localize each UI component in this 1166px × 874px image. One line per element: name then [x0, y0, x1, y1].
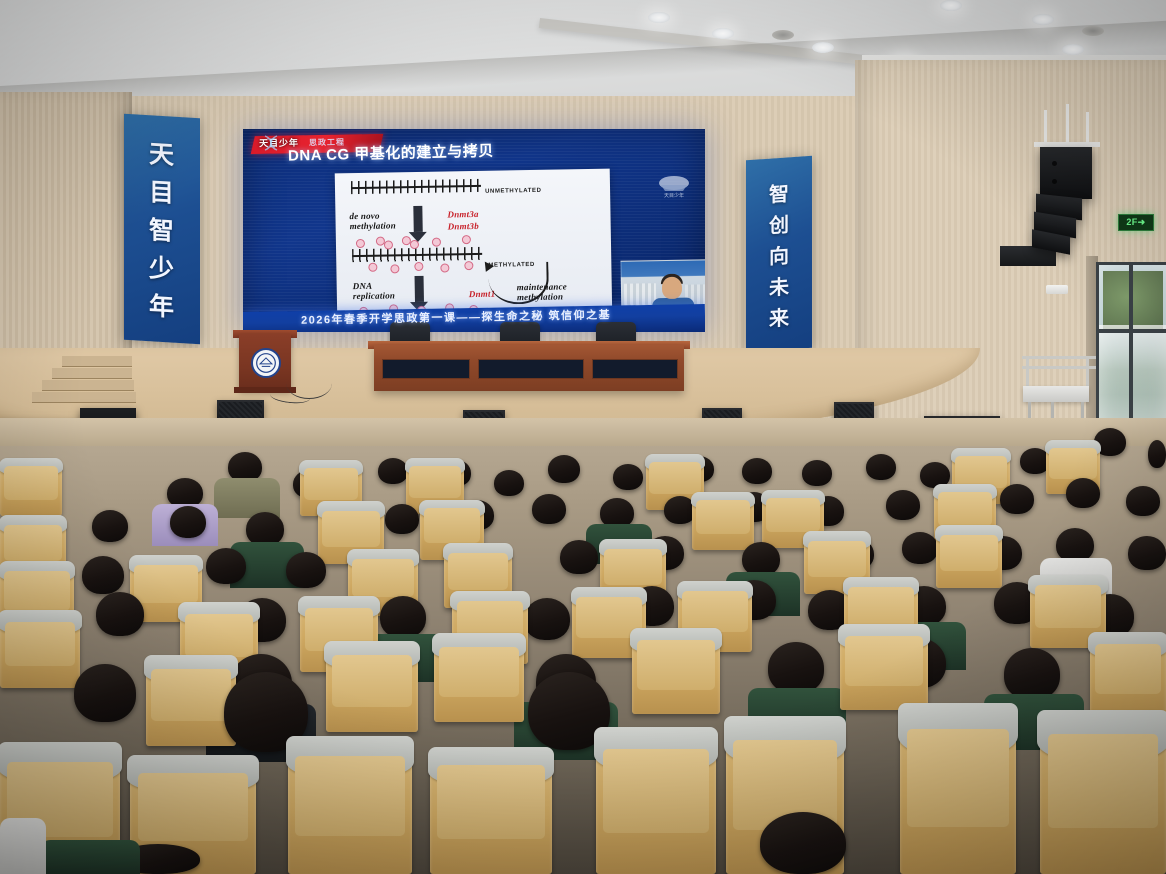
- methyl-group-icon: [410, 240, 419, 249]
- methyl-group-icon: [440, 263, 449, 272]
- student-head: [82, 556, 124, 594]
- downlight-icon: [1032, 14, 1054, 25]
- label-unmethylated: UNMETHYLATED: [485, 186, 542, 197]
- banner-char: 向: [769, 239, 789, 269]
- line-array-speaker: [1040, 147, 1092, 199]
- banner-char: 未: [769, 270, 789, 300]
- floor-direction-sign: 2F➜: [1118, 214, 1154, 231]
- downlight-icon: [1082, 26, 1104, 36]
- led-display-screen: 天目少年 思政工程 DNA CG 甲基化的建立与拷贝 天目少年 UNMETHYL…: [243, 129, 705, 332]
- student-head: [802, 460, 832, 486]
- student-head: [1056, 528, 1094, 562]
- auditorium-seat[interactable]: [434, 640, 524, 722]
- banner-left: 天 目 智 少 年: [124, 114, 200, 345]
- downlight-icon: [1062, 44, 1084, 55]
- auditorium-seat[interactable]: [0, 462, 62, 516]
- speaker-rigging: [1044, 110, 1047, 146]
- downlight-icon: [772, 30, 794, 40]
- auditorium-seat[interactable]: [1040, 722, 1166, 874]
- methyl-group-icon: [390, 264, 399, 273]
- student-head: [1000, 484, 1034, 514]
- banner-char: 少: [149, 248, 175, 286]
- auditorium-seat[interactable]: [146, 662, 236, 746]
- banner-char: 来: [769, 301, 789, 331]
- banner-char: 智: [769, 177, 789, 207]
- banner-right: 智 创 向 未 来: [746, 156, 812, 353]
- downlight-icon: [940, 0, 962, 11]
- banner-char: 创: [769, 208, 789, 238]
- student-head: [613, 464, 643, 490]
- student-head: [548, 455, 580, 483]
- student-head: [1148, 440, 1166, 468]
- conference-table: [374, 345, 684, 391]
- table-panel: [382, 359, 470, 379]
- school-crest-icon: [251, 348, 281, 378]
- student-head: [560, 540, 598, 574]
- label-de-novo: de novo methylation: [349, 210, 396, 231]
- label-dnmt3b: Dnmt3b: [448, 221, 479, 232]
- student-head: [1128, 536, 1166, 570]
- student-head: [380, 596, 426, 638]
- student-head: [385, 504, 419, 534]
- auditorium-seat[interactable]: [840, 630, 928, 710]
- banner-char: 目: [149, 172, 175, 210]
- student-head: [866, 454, 896, 480]
- student-head: [74, 664, 136, 722]
- slide-diagram: UNMETHYLATED de novo methylation Dnmt3a …: [335, 169, 613, 322]
- student-head: [246, 512, 284, 546]
- downlight-icon: [812, 42, 834, 53]
- auditorium-seat[interactable]: [1090, 638, 1166, 718]
- student-head: [524, 598, 570, 640]
- speaker-rigging: [1086, 112, 1089, 146]
- table-panel: [478, 359, 584, 379]
- student-shoulders: [40, 840, 140, 874]
- student-head: [96, 592, 144, 636]
- podium: [239, 334, 291, 390]
- methyl-group-icon: [464, 261, 473, 270]
- student-head: [768, 642, 824, 694]
- banner-right-text: 智 创 向 未 来: [746, 156, 812, 353]
- banner-char: 天: [149, 134, 175, 172]
- dna-ticks: [352, 247, 482, 262]
- student-head: [378, 458, 408, 484]
- student-head: [1126, 486, 1160, 516]
- auditorium-seat[interactable]: [326, 648, 418, 732]
- auditorium-seat[interactable]: [430, 756, 552, 874]
- svg-text:天目少年: 天目少年: [664, 192, 684, 199]
- dna-ticks: [351, 179, 481, 194]
- student-head: [286, 552, 326, 588]
- banner-char: 智: [149, 210, 175, 248]
- student-head: [92, 510, 128, 542]
- label-dna-replication: DNA replication: [353, 280, 396, 301]
- arrow-down-icon: [413, 206, 422, 232]
- methyl-group-icon: [414, 262, 423, 271]
- banner-char: 年: [149, 286, 175, 324]
- aisle-partition: [0, 418, 1166, 446]
- student-head: [494, 470, 524, 496]
- banner-left-text: 天 目 智 少 年: [124, 114, 200, 345]
- downlight-icon: [712, 28, 734, 39]
- window-foliage: [1103, 271, 1163, 329]
- auditorium-seat[interactable]: [288, 746, 412, 874]
- methyl-group-icon: [356, 239, 365, 248]
- label-dnmt3a: Dnmt3a: [447, 209, 478, 220]
- broadcast-logo-icon: 天目少年: [653, 173, 695, 199]
- auditorium-photo: 2F➜ 天 目 智 少 年 天目少年 思政工程 DNA CG 甲基化的建立与拷贝…: [0, 0, 1166, 874]
- student-head: [742, 542, 780, 576]
- auditorium-seat[interactable]: [900, 716, 1016, 874]
- student-head: [886, 490, 920, 520]
- student-head: [742, 458, 772, 484]
- presenter-head: [662, 277, 682, 299]
- stage-steps: [32, 352, 144, 412]
- student-head: [170, 506, 206, 538]
- floor-sign-label: 2F➜: [1126, 217, 1145, 228]
- student-shoulders: [0, 818, 46, 874]
- wall-light-fixture: [1046, 285, 1068, 294]
- speaker-rigging: [1066, 104, 1069, 146]
- auditorium-seat[interactable]: [936, 530, 1002, 588]
- auditorium-seat[interactable]: [632, 634, 720, 714]
- student-head: [902, 532, 938, 564]
- table-panel: [592, 359, 678, 379]
- methyl-group-icon: [432, 238, 441, 247]
- student-head: [206, 548, 246, 584]
- dna-helix-icon: [261, 133, 281, 153]
- arrow-down-icon: [415, 276, 424, 302]
- auditorium-seat[interactable]: [0, 616, 80, 688]
- student-head: [1004, 648, 1060, 700]
- downlight-icon: [648, 12, 670, 23]
- methyl-group-icon: [462, 235, 471, 244]
- student-head: [1066, 478, 1100, 508]
- auditorium-seat[interactable]: [596, 738, 716, 874]
- student-head: [760, 812, 846, 874]
- student-head: [532, 494, 566, 524]
- methyl-group-icon: [368, 263, 377, 272]
- auditorium-seat[interactable]: [692, 496, 754, 550]
